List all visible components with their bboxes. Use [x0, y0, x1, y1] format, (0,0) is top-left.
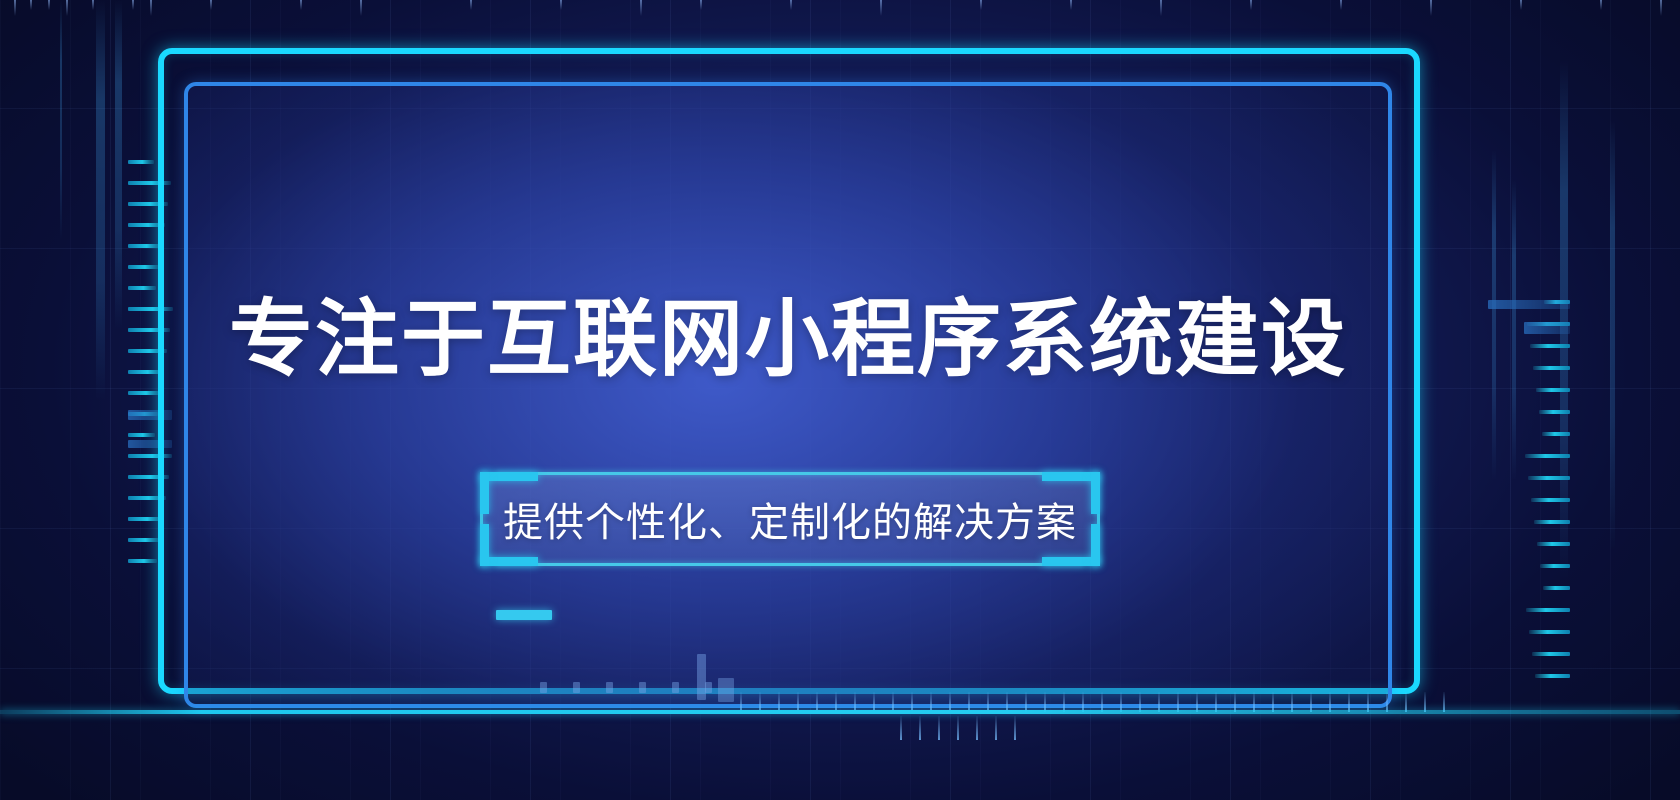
tick-mark [128, 160, 154, 164]
tick-mark [1544, 300, 1570, 304]
tick-mark [128, 433, 155, 437]
tick-mark [1600, 0, 1602, 10]
tick-mark [132, 0, 134, 10]
tick-mark [1530, 344, 1570, 348]
tick-mark [1424, 692, 1426, 712]
bottom-glow-line [0, 710, 1680, 714]
tick-mark [128, 412, 158, 416]
tick-mark [995, 716, 997, 740]
page-subtitle: 提供个性化、定制化的解决方案 [466, 464, 1114, 574]
tick-mark [128, 538, 160, 542]
tick-mark [1405, 692, 1407, 712]
tick-mark [919, 716, 921, 740]
tick-mark [790, 0, 792, 10]
page-title: 专注于互联网小程序系统建设 [229, 297, 1347, 381]
tick-mark [1542, 432, 1570, 436]
vertical-bar-decor [60, 0, 62, 240]
tick-mark [1529, 630, 1570, 634]
tick-mark [30, 0, 32, 10]
tick-mark [1527, 322, 1570, 326]
tick-mark [1543, 586, 1570, 590]
tick-mark [48, 0, 50, 10]
tick-mark [560, 0, 562, 10]
vertical-bar-decor [115, 0, 122, 330]
tick-mark [92, 0, 94, 10]
hero-banner: 专注于互联网小程序系统建设 提供个性化、定制化的解决方案 [0, 0, 1680, 800]
tick-mark [128, 391, 161, 395]
vertical-bar-decor [1560, 60, 1568, 580]
tick-mark [1526, 608, 1570, 612]
tick-mark [1539, 410, 1570, 414]
tick-mark [210, 0, 212, 10]
tick-mark [900, 716, 902, 740]
tick-mark [128, 286, 156, 290]
subtitle-bracket-box: 提供个性化、定制化的解决方案 [466, 464, 1114, 574]
tick-mark [128, 244, 162, 248]
tick-mark [1520, 0, 1522, 10]
tick-mark [880, 0, 882, 16]
tick-mark [700, 0, 702, 10]
tick-mark [1531, 498, 1570, 502]
tick-mark [938, 716, 940, 740]
tick-mark [1533, 366, 1570, 370]
tick-mark [1536, 388, 1570, 392]
right-tick-ladder-main [1524, 300, 1570, 700]
tick-mark [1070, 0, 1072, 10]
tick-mark [66, 0, 68, 16]
right-slab-decor [1524, 322, 1570, 334]
tick-mark [1014, 716, 1016, 740]
tick-mark [1430, 0, 1432, 16]
tick-mark [128, 265, 159, 269]
tick-mark [360, 0, 362, 16]
tick-mark [128, 559, 157, 563]
tick-mark [980, 0, 982, 10]
tick-mark [1535, 674, 1570, 678]
inner-panel-frame: 专注于互联网小程序系统建设 [184, 82, 1392, 708]
tick-mark [1443, 692, 1445, 712]
right-slab-decor [1488, 300, 1570, 309]
tick-mark [1532, 652, 1570, 656]
tick-mark [976, 716, 978, 740]
bottom-tick-marks-lower [900, 714, 1020, 740]
tick-mark [1528, 476, 1570, 480]
tick-mark [150, 0, 152, 16]
tick-mark [1250, 0, 1252, 10]
tick-mark [1537, 542, 1570, 546]
tick-mark [1340, 0, 1342, 10]
vertical-bar-decor [1512, 180, 1516, 480]
vertical-bar-decor [1610, 120, 1615, 550]
tick-mark [470, 0, 472, 10]
tick-mark [1525, 454, 1570, 458]
banner-content: 专注于互联网小程序系统建设 [188, 86, 1388, 704]
top-tick-marks [0, 0, 1680, 22]
tick-mark [1540, 564, 1570, 568]
tick-mark [957, 716, 959, 740]
tick-mark [300, 0, 302, 10]
tick-mark [1660, 0, 1662, 16]
vertical-bar-decor [1492, 150, 1496, 480]
tick-mark [14, 0, 16, 16]
tick-mark [640, 0, 642, 16]
tick-mark [1160, 0, 1162, 16]
tick-mark [1534, 520, 1570, 524]
vertical-bar-decor [96, 0, 105, 400]
